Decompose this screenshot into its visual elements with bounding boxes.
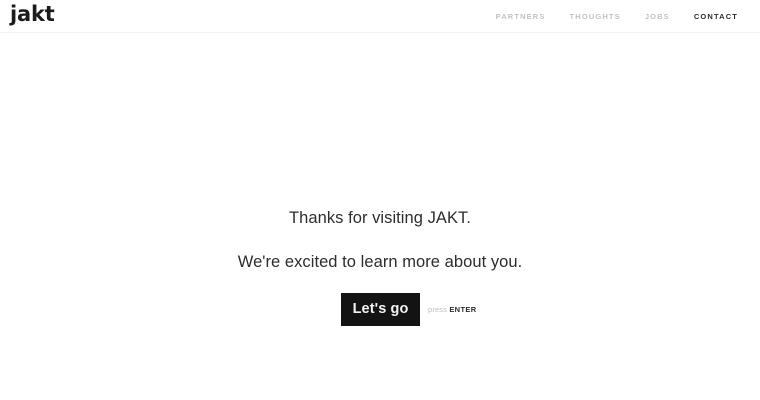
brand-logo[interactable]: jakt [10,2,55,26]
main-navigation: PARTNERS THOUGHTS JOBS CONTACT [496,0,738,33]
hint-enter-key: ENTER [449,305,476,314]
site-header: jakt PARTNERS THOUGHTS JOBS CONTACT [0,0,760,33]
nav-item-jobs[interactable]: JOBS [645,12,670,22]
nav-item-thoughts[interactable]: THOUGHTS [570,12,621,22]
hint-prefix-text: press [428,305,447,314]
press-enter-hint: press ENTER [428,304,477,315]
page-main: Thanks for visiting JAKT. We're excited … [0,33,760,400]
hero-headline-secondary: We're excited to learn more about you. [0,251,760,273]
nav-item-contact[interactable]: CONTACT [694,12,738,22]
lets-go-button[interactable]: Let's go [341,293,420,326]
nav-item-partners[interactable]: PARTNERS [496,12,546,22]
hero-headline-primary: Thanks for visiting JAKT. [0,207,760,229]
cta-row: Let's go press ENTER [0,293,760,326]
